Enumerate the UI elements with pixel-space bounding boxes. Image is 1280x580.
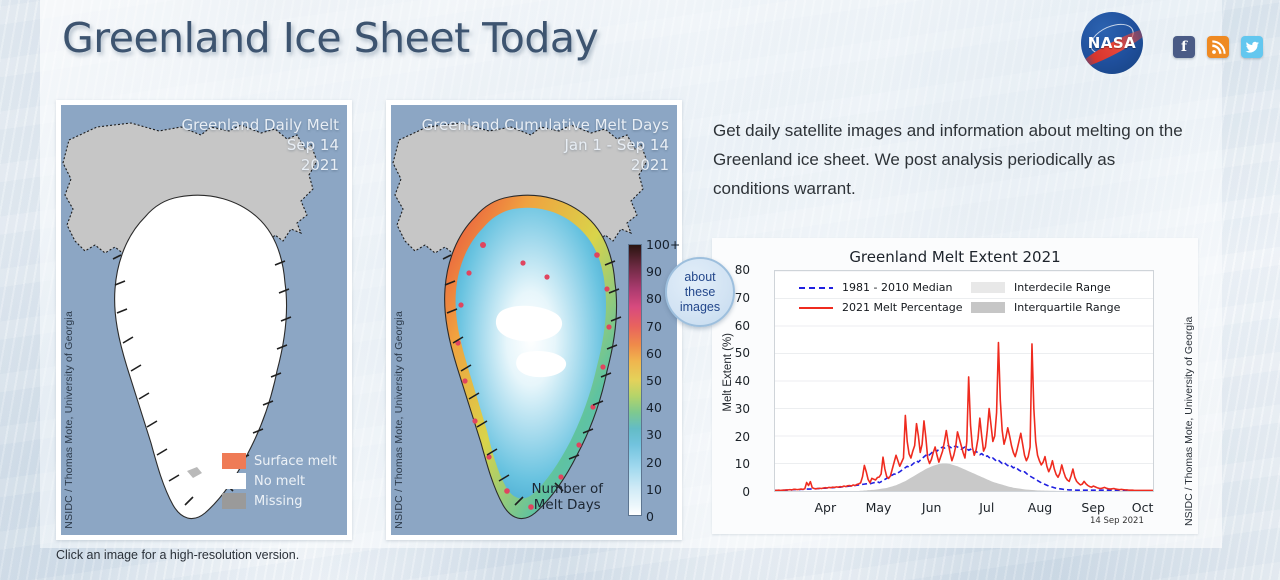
legend-key-interquartile [971,302,1005,313]
legend-interquartile: Interquartile Range [971,301,1120,314]
intro-paragraph: Get daily satellite images and informati… [713,116,1193,203]
colorbar-tick-60: 60 [646,346,662,361]
chart-ytick-0: 0 [710,485,750,499]
facebook-icon[interactable]: f [1173,36,1195,58]
chart-ytick-20: 20 [710,430,750,444]
map-cumulative-credit: NSIDC / Thomas Mote, University of Georg… [393,311,405,529]
chart-ytick-10: 10 [710,457,750,471]
chart-legend-bands: Interdecile Range Interquartile Range [971,281,1120,321]
colorbar-gradient [628,244,642,516]
map-cumulative-date: Jan 1 - Sep 14 [422,135,669,155]
colorbar-caption: Number of Melt Days [531,481,603,513]
twitter-icon[interactable] [1241,36,1263,58]
colorbar-tick-40: 40 [646,400,662,415]
legend-item-surface-melt: Surface melt [222,453,337,469]
chart-xtick-jul: Jul [979,500,994,515]
legend-swatch-no-melt [222,473,246,489]
about-badge-line3: images [680,300,720,315]
chart-xtick-sep: Sep [1081,500,1105,515]
chart-legend-lines: 1981 - 2010 Median 2021 Melt Percentage [799,281,963,321]
chart-xtick-jun: Jun [922,500,942,515]
legend-label-2021: 2021 Melt Percentage [842,301,963,314]
colorbar-tick-70: 70 [646,319,662,334]
legend-label-no-melt: No melt [254,474,305,489]
chart-date-stamp: 14 Sep 2021 [1090,516,1144,526]
chart-plot-area: 1981 - 2010 Median 2021 Melt Percentage … [774,270,1154,492]
page-title: Greenland Ice Sheet Today [62,14,598,62]
colorbar-tick-50: 50 [646,373,662,388]
chart-title: Greenland Melt Extent 2021 [712,248,1198,266]
legend-swatch-missing [222,493,246,509]
legend-swatch-surface-melt [222,453,246,469]
map-cumulative-year: 2021 [422,155,669,175]
chart-xtick-apr: Apr [814,500,836,515]
footnote-text: Click an image for a high-resolution ver… [56,548,299,562]
legend-label-interdecile: Interdecile Range [1014,281,1111,294]
map-daily-date: Sep 14 [181,135,339,155]
map-daily-legend: Surface melt No melt Missing [222,453,337,513]
colorbar-caption-line2: Melt Days [531,497,603,513]
map-daily-year: 2021 [181,155,339,175]
colorbar-caption-line1: Number of [531,481,603,497]
map-card-daily-melt[interactable]: Greenland Daily Melt Sep 14 2021 NSIDC /… [56,100,352,540]
legend-label-missing: Missing [254,494,302,509]
about-badge-line1: about [684,270,715,285]
legend-item-missing: Missing [222,493,337,509]
colorbar-tick-100plus: 100+ [646,237,680,252]
legend-2021: 2021 Melt Percentage [799,301,963,314]
legend-label-interquartile: Interquartile Range [1014,301,1120,314]
legend-label-surface-melt: Surface melt [254,454,337,469]
chart-ytick-40: 40 [710,374,750,388]
chart-xtick-may: May [866,500,892,515]
legend-key-interdecile [971,282,1005,293]
about-these-images-button[interactable]: about these images [665,257,735,327]
legend-label-median: 1981 - 2010 Median [842,281,952,294]
map-cumulative-title: Greenland Cumulative Melt Days [422,115,669,135]
legend-key-median [799,282,833,293]
colorbar-tick-20: 20 [646,455,662,470]
legend-median: 1981 - 2010 Median [799,281,963,294]
facebook-glyph: f [1181,39,1187,55]
colorbar-tick-80: 80 [646,291,662,306]
nasa-wordmark: NASA [1081,34,1143,52]
rss-icon[interactable] [1207,36,1229,58]
map-daily-melt-image[interactable]: Greenland Daily Melt Sep 14 2021 NSIDC /… [61,105,347,535]
map-daily-title-block: Greenland Daily Melt Sep 14 2021 [181,115,339,175]
legend-key-2021 [799,302,833,313]
map-daily-credit: NSIDC / Thomas Mote, University of Georg… [63,311,75,529]
chart-ytick-50: 50 [710,346,750,360]
chart-credit: NSIDC / Thomas Mote, University of Georg… [1183,248,1195,526]
colorbar-tick-90: 90 [646,264,662,279]
legend-item-no-melt: No melt [222,473,337,489]
twitter-glyph [1245,40,1260,55]
about-badge-line2: these [685,285,716,300]
colorbar-tick-30: 30 [646,427,662,442]
colorbar-tick-10: 10 [646,482,662,497]
map-daily-title: Greenland Daily Melt [181,115,339,135]
chart-xtick-oct: Oct [1132,500,1154,515]
nasa-logo[interactable]: NASA [1081,12,1143,74]
chart-y-axis-label: Melt Extent (%) [722,333,734,412]
rss-glyph [1211,40,1226,55]
chart-ytick-30: 30 [710,402,750,416]
legend-interdecile: Interdecile Range [971,281,1120,294]
melt-extent-chart-panel[interactable]: Greenland Melt Extent 2021 Melt Extent (… [712,238,1198,534]
chart-xtick-aug: Aug [1028,500,1052,515]
colorbar-tick-0: 0 [646,509,654,524]
map-cumulative-title-block: Greenland Cumulative Melt Days Jan 1 - S… [422,115,669,175]
